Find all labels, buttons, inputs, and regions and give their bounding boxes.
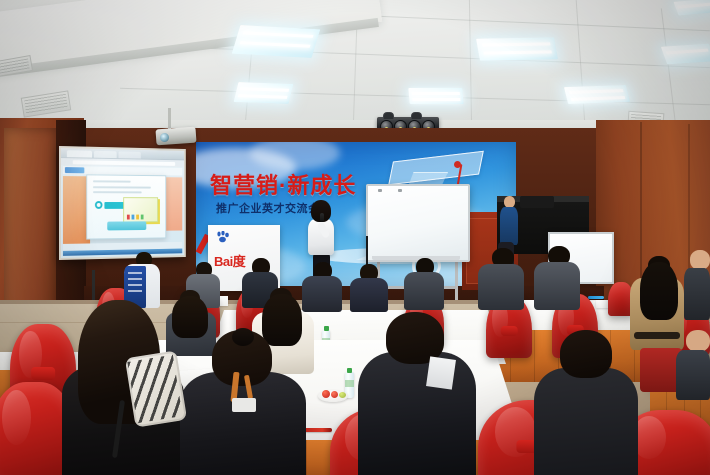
ceiling-light-panel — [564, 85, 630, 104]
attendee-body — [302, 276, 342, 312]
brand-ring-icon — [95, 201, 103, 209]
av-operator-body — [500, 207, 518, 245]
attendee-body — [404, 272, 444, 310]
product-box-graphic — [123, 197, 158, 222]
ceiling-light-panel — [232, 25, 321, 58]
attendee-hair — [640, 262, 678, 320]
ceiling-light-panel — [476, 37, 558, 60]
handheld-microphone — [320, 213, 324, 222]
whiteboard — [366, 184, 470, 262]
product-dialog — [86, 174, 166, 239]
attendee-body — [478, 264, 524, 310]
projected-browser-window — [61, 148, 184, 258]
attendee-hair — [172, 296, 208, 338]
name-badge — [232, 398, 256, 412]
attendee-hair — [262, 294, 302, 346]
banner-subheadline: 推广企业英才交流会 — [216, 200, 320, 216]
vest-text — [128, 272, 142, 296]
fruit-apple — [331, 391, 338, 398]
shirt-collar — [426, 356, 456, 389]
dialog-primary-button[interactable] — [107, 221, 146, 230]
av-monitor — [520, 196, 554, 208]
ceiling-light-panel — [661, 44, 710, 65]
fruit-green — [339, 392, 346, 398]
hair-bun — [232, 328, 254, 346]
attendee-head — [690, 250, 710, 270]
fruit-apple — [322, 390, 330, 398]
foreground-attendee-suit — [358, 352, 476, 475]
site-logo — [65, 167, 84, 173]
projector-mount-pole — [168, 108, 171, 130]
foreground-attendee-suit — [180, 372, 306, 475]
whiteboard-marker-tray — [372, 256, 460, 260]
attendee-head — [686, 330, 710, 352]
scarf-pattern — [127, 355, 182, 423]
foreground-attendee-body — [534, 368, 638, 475]
conference-room-photo: 智营销·新成长 推广企业英才交流会 — [0, 0, 710, 475]
attendee-body — [534, 262, 580, 310]
left-wall-wood-panel — [4, 128, 56, 328]
baidu-paw-icon — [216, 231, 230, 243]
projection-screen — [59, 146, 186, 260]
coat-belt — [634, 332, 680, 339]
attendee-body — [684, 268, 710, 320]
ceiling-light-panel — [408, 88, 463, 104]
foreground-attendee-head — [560, 330, 612, 378]
attendee-body — [350, 278, 388, 312]
banner-headline: 智营销·新成长 — [210, 168, 356, 200]
attendee-body — [676, 350, 710, 400]
flipchart-logo-text: Bai度 — [214, 251, 245, 270]
os-taskbar — [63, 249, 182, 256]
ceiling-light-panel — [234, 82, 294, 104]
ceiling-light-panel — [673, 0, 710, 16]
